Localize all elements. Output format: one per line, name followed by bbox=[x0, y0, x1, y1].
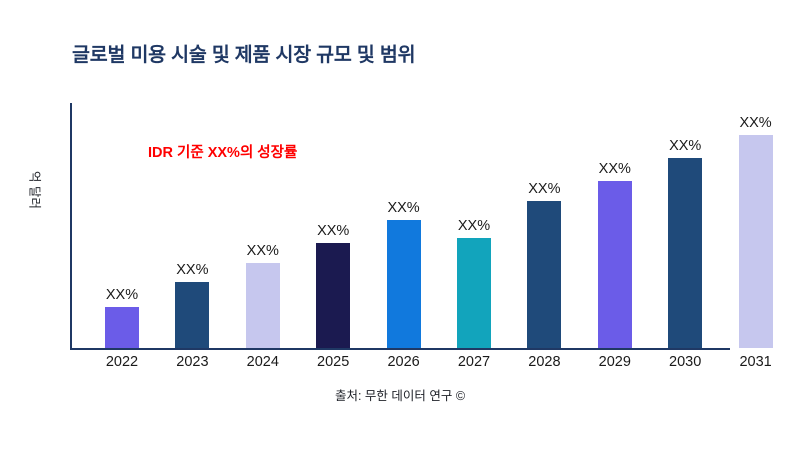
bar-value-label: XX% bbox=[458, 218, 490, 234]
y-axis-label: 억 달러 bbox=[27, 171, 46, 209]
x-axis-line bbox=[70, 348, 730, 350]
bar[interactable]: XX% bbox=[457, 238, 491, 348]
x-axis-tick-label: 2024 bbox=[231, 354, 295, 370]
bar-value-label: XX% bbox=[247, 243, 279, 259]
x-axis-tick-label: 2030 bbox=[653, 354, 717, 370]
bar-value-label: XX% bbox=[528, 181, 560, 197]
source-caption: 출처: 무한 데이터 연구 © bbox=[0, 385, 800, 404]
bar-value-label: XX% bbox=[387, 200, 419, 216]
bar[interactable]: XX% bbox=[105, 307, 139, 348]
bar[interactable]: XX% bbox=[246, 263, 280, 348]
bar-value-label: XX% bbox=[739, 115, 771, 131]
x-axis-tick-label: 2031 bbox=[724, 354, 788, 370]
y-axis-label-container: 억 달러 bbox=[16, 140, 56, 240]
x-axis-tick-label: 2025 bbox=[301, 354, 365, 370]
bar[interactable]: XX% bbox=[598, 181, 632, 349]
x-axis-tick-label: 2029 bbox=[583, 354, 647, 370]
page-title: 글로벌 미용 시술 및 제품 시장 규모 및 범위 bbox=[72, 38, 415, 67]
bar-value-label: XX% bbox=[599, 161, 631, 177]
bar[interactable]: XX% bbox=[316, 243, 350, 349]
x-axis-tick-label: 2028 bbox=[512, 354, 576, 370]
plot-area: XX%XX%XX%XX%XX%XX%XX%XX%XX%XX% bbox=[70, 103, 730, 350]
x-axis-tick-label: 2027 bbox=[442, 354, 506, 370]
bar-value-label: XX% bbox=[106, 287, 138, 303]
chart-container: 글로벌 미용 시술 및 제품 시장 규모 및 범위 억 달러 IDR 기준 XX… bbox=[0, 0, 800, 450]
bar-value-label: XX% bbox=[669, 138, 701, 154]
bar[interactable]: XX% bbox=[387, 220, 421, 349]
y-axis-line bbox=[70, 103, 72, 350]
bar[interactable]: XX% bbox=[527, 201, 561, 348]
bar-value-label: XX% bbox=[176, 262, 208, 278]
bar-value-label: XX% bbox=[317, 223, 349, 239]
x-axis-tick-label: 2026 bbox=[372, 354, 436, 370]
bar[interactable]: XX% bbox=[668, 158, 702, 349]
x-axis-tick-label: 2023 bbox=[160, 354, 224, 370]
bar[interactable]: XX% bbox=[739, 135, 773, 349]
bar[interactable]: XX% bbox=[175, 282, 209, 349]
x-axis-tick-label: 2022 bbox=[90, 354, 154, 370]
